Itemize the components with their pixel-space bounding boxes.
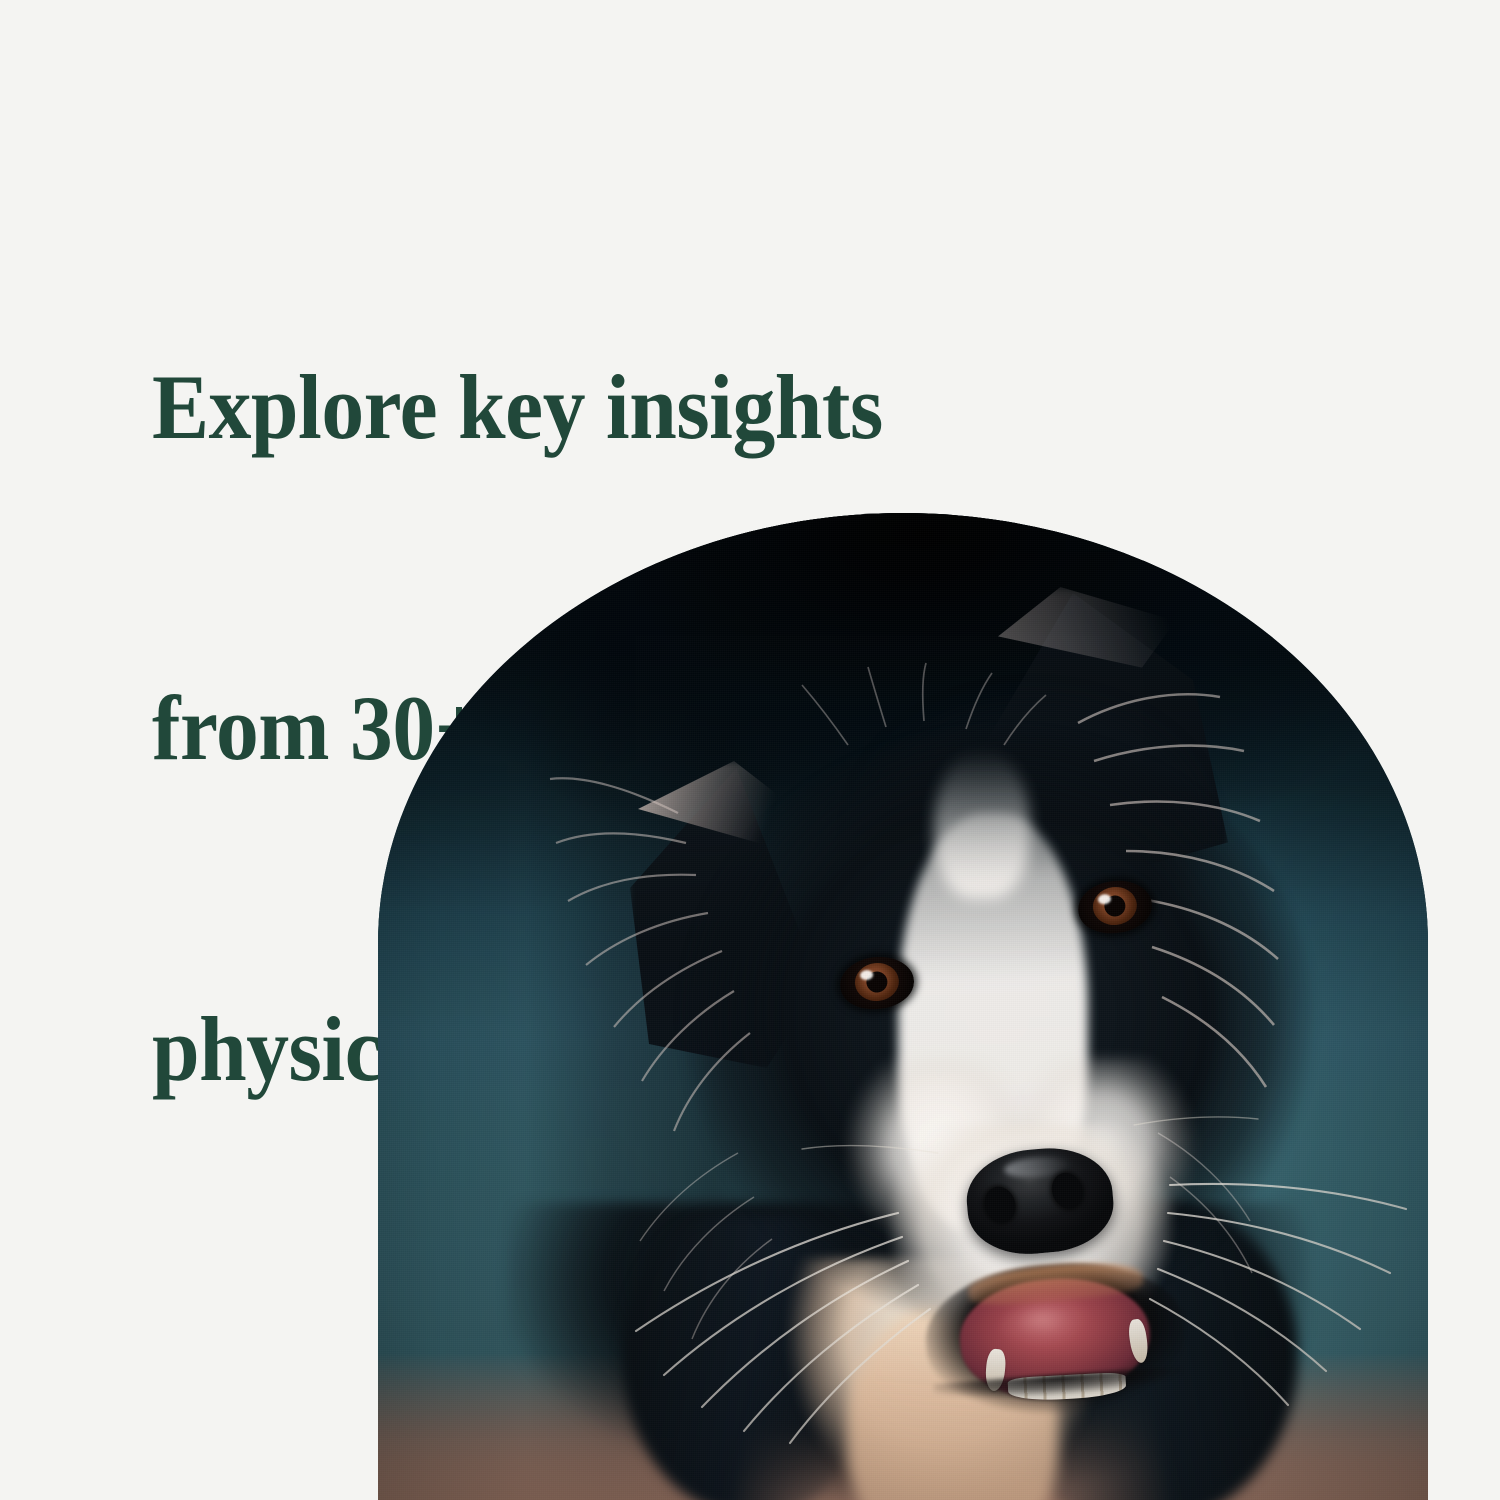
photo-vignette <box>378 513 1428 1500</box>
headline-line-1: Explore key insights <box>152 354 1249 461</box>
page-root: { "page": { "background_color": "#f4f4f2… <box>0 0 1500 1500</box>
dog-photo-arch <box>378 513 1428 1500</box>
